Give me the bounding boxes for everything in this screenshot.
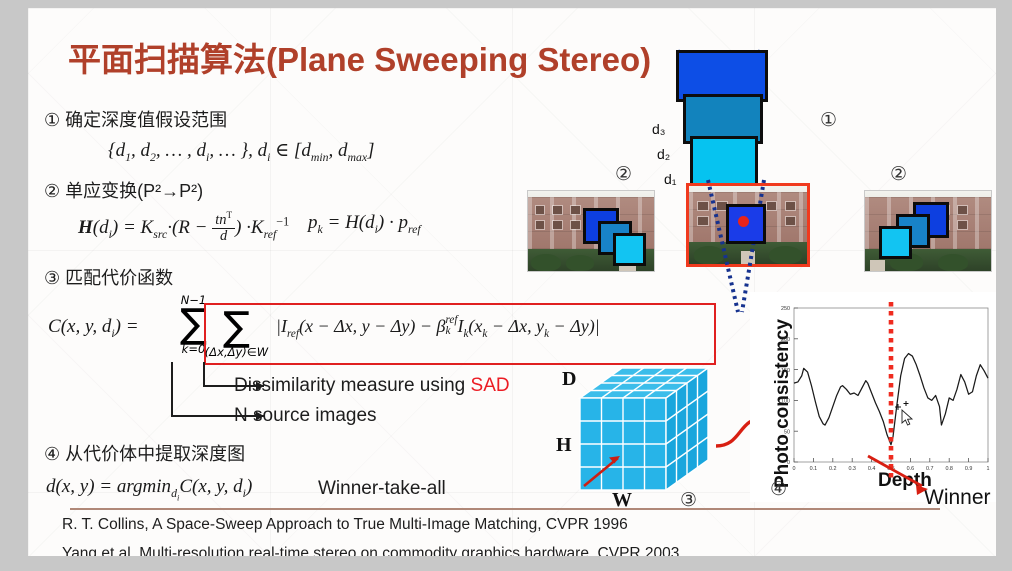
svg-text:0.2: 0.2 bbox=[829, 466, 837, 472]
sad-metric: SAD bbox=[471, 375, 510, 396]
slide-canvas: 平面扫描算法(Plane Sweeping Stereo) ① 确定深度值假设范… bbox=[28, 8, 996, 556]
formula-homography: H(di) = Ksrc·(R − tnTd) ·Kref−1 bbox=[78, 212, 289, 245]
reference-1: R. T. Collins, A Space-Sweep Approach to… bbox=[62, 516, 628, 534]
reference-2: Yang et al. Multi-resolution real-time s… bbox=[62, 545, 679, 556]
svg-text:250: 250 bbox=[781, 306, 790, 312]
svg-text:0: 0 bbox=[787, 460, 790, 466]
formula-depth-set: {d1, d2, … , di, … }, di ∈ [dmin, dmax] bbox=[108, 139, 375, 165]
formula-cost-lhs: C(x, y, di) = bbox=[48, 316, 139, 341]
sum-outer-upper: N−1 bbox=[181, 293, 207, 307]
frame-bottom bbox=[0, 556, 1012, 571]
svg-text:200: 200 bbox=[781, 337, 790, 343]
winner-arrow bbox=[866, 454, 936, 496]
dissimilarity-note: Dissimilarity measure using SAD bbox=[234, 375, 510, 397]
svg-text:0: 0 bbox=[793, 466, 796, 472]
cube-label-depth: D bbox=[562, 368, 576, 391]
frame-right bbox=[996, 0, 1012, 571]
frame-left bbox=[0, 0, 28, 571]
step-4-label: ④ 从代价体中提取深度图 bbox=[44, 440, 245, 466]
sweeping-planes-diagram: d₃ d₂ d₁ bbox=[654, 28, 804, 188]
formula-point-map: pk = H(di) · pref bbox=[308, 212, 421, 237]
svg-text:1: 1 bbox=[987, 466, 990, 472]
depth-label-d2: d₂ bbox=[657, 146, 670, 162]
svg-text:150: 150 bbox=[781, 368, 790, 374]
step-1-label: ① 确定深度值假设范围 bbox=[44, 106, 227, 132]
n-source-note: N source images bbox=[234, 405, 377, 427]
sum-outer: N−1 ∑ k=0 bbox=[180, 308, 207, 341]
cube-label-height: H bbox=[556, 434, 572, 457]
depth-label-d3: d₃ bbox=[652, 121, 666, 137]
svg-text:0.9: 0.9 bbox=[965, 466, 973, 472]
svg-text:0.8: 0.8 bbox=[945, 466, 953, 472]
formula-cost-body: |Iref(x − Δx, y − Δy) − βrefkIk(xk − Δx,… bbox=[276, 315, 600, 340]
sum-outer-lower: k=0 bbox=[182, 342, 206, 356]
svg-text:0.3: 0.3 bbox=[848, 466, 856, 472]
sum-inner-lower: (Δx,Δy)∈W bbox=[205, 345, 268, 359]
right-patch-d1 bbox=[879, 226, 912, 259]
left-view-marker: ② bbox=[615, 163, 632, 186]
step-2-label: ② 单应变换(P²→P²) bbox=[44, 177, 203, 203]
dissimilarity-prefix: Dissimilarity measure using bbox=[234, 375, 471, 396]
chart-marker: ④ bbox=[770, 478, 787, 501]
formula-argmin: d(x, y) = argmindiC(x, y, di) bbox=[46, 476, 252, 502]
svg-text:50: 50 bbox=[784, 429, 790, 435]
page-title: 平面扫描算法(Plane Sweeping Stereo) bbox=[68, 33, 651, 81]
left-patch-d1 bbox=[613, 233, 646, 266]
reference-center-dot bbox=[738, 216, 749, 227]
frustum-marker: ① bbox=[820, 109, 837, 132]
svg-text:100: 100 bbox=[781, 399, 790, 405]
slide-stage: 平面扫描算法(Plane Sweeping Stereo) ① 确定深度值假设范… bbox=[0, 0, 1012, 571]
right-view-marker: ② bbox=[890, 163, 907, 186]
reference-divider bbox=[70, 508, 940, 510]
frame-top bbox=[0, 0, 1012, 8]
depth-label-d1: d₁ bbox=[664, 171, 677, 187]
sum-inner: ∑ (Δx,Δy)∈W bbox=[223, 311, 250, 344]
cube-label-width: W bbox=[612, 489, 632, 512]
step-3-label: ③ 匹配代价函数 bbox=[44, 264, 173, 290]
winner-take-all-note: Winner-take-all bbox=[318, 478, 446, 500]
cost-volume-marker: ③ bbox=[680, 489, 697, 512]
svg-text:0.1: 0.1 bbox=[810, 466, 818, 472]
cost-volume-cube: D H W bbox=[540, 364, 730, 512]
